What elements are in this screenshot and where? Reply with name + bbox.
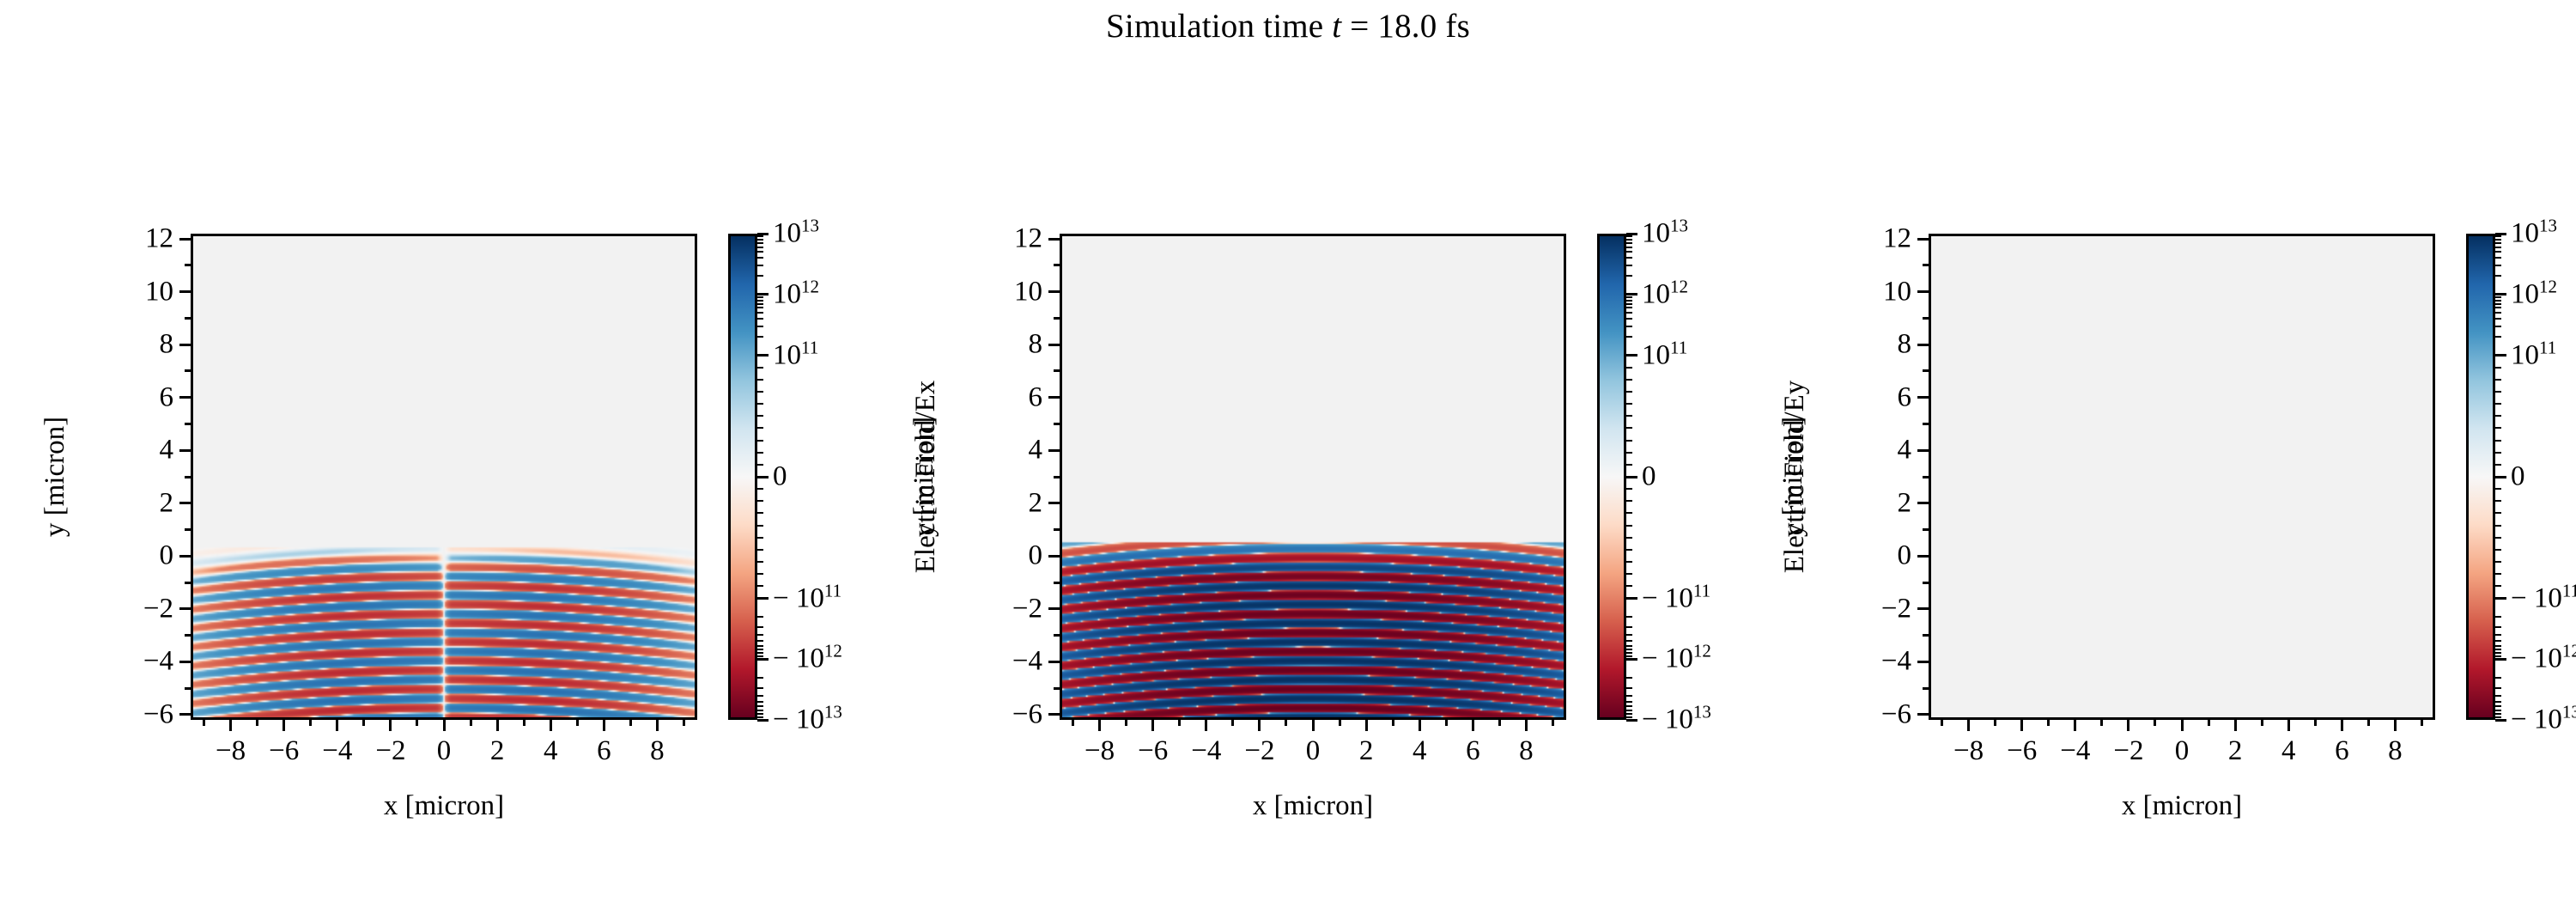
x-tick-major — [656, 720, 659, 731]
colorbar-ey[interactable] — [1597, 234, 1626, 720]
colorbar-tick-minor — [2495, 677, 2501, 679]
y-tick-label: 8 — [62, 329, 173, 361]
colorbar-tick-exponent: 12 — [801, 276, 819, 296]
y-tick-minor — [1923, 634, 1929, 637]
x-tick-minor — [683, 720, 685, 726]
y-tick-label: −4 — [931, 646, 1042, 678]
colorbar-tick-label: − 10 — [2511, 704, 2562, 735]
colorbar-tick-minor — [2495, 257, 2501, 259]
y-tick-minor — [1054, 687, 1060, 690]
colorbar-tick-minor — [757, 677, 763, 679]
plot-area-ex[interactable] — [191, 234, 697, 720]
colorbar-tick-label: 10 — [773, 278, 801, 309]
colorbar-tick-minor — [1626, 239, 1632, 241]
x-tick-label: 4 — [1413, 735, 1427, 767]
colorbar-tick-minor — [757, 713, 763, 715]
y-tick-major — [1917, 607, 1929, 610]
colorbar-tick-minor — [2495, 336, 2501, 338]
colorbar-tick-minor — [2495, 634, 2501, 636]
colorbar-tick-minor — [757, 296, 763, 298]
colorbar-tick-minor — [757, 561, 763, 563]
x-tick-minor — [1392, 720, 1394, 726]
x-tick-label: 0 — [1306, 735, 1321, 767]
colorbar-gradient — [2469, 236, 2493, 717]
colorbar-tick-label: − 10 — [2511, 643, 2562, 674]
colorbar-tick-minor — [2495, 695, 2501, 697]
y-axis-title: y [micron] — [908, 417, 940, 537]
colorbar-tick-minor — [757, 235, 763, 237]
y-tick-major — [1917, 661, 1929, 663]
y-tick-minor — [1923, 317, 1929, 320]
x-tick-major — [2287, 720, 2290, 731]
y-tick-major — [179, 502, 191, 504]
colorbar-tick-label-group: 0 — [2511, 461, 2525, 493]
colorbar-tick-exponent: 12 — [2539, 276, 2557, 296]
y-tick-major — [1048, 661, 1060, 663]
colorbar-tick-minor — [1626, 326, 1632, 327]
colorbar-tick-minor — [1626, 716, 1632, 718]
colorbar-tick-major — [757, 658, 769, 661]
colorbar-tick-exponent: 11 — [2539, 337, 2556, 357]
colorbar-tick-major — [757, 719, 769, 722]
x-tick-minor — [2154, 720, 2156, 726]
colorbar-tick-minor — [2495, 512, 2501, 514]
colorbar-tick-minor — [757, 440, 763, 442]
x-tick-label: −2 — [1244, 735, 1274, 767]
x-tick-major — [1525, 720, 1528, 731]
colorbar-tick-exponent: 11 — [801, 337, 818, 357]
y-tick-label: 10 — [931, 276, 1042, 308]
colorbar-tick-exponent: 11 — [1693, 580, 1710, 600]
colorbar-tick-label-group: − 1013 — [2511, 704, 2576, 736]
y-tick-major — [1917, 502, 1929, 504]
x-tick-major — [2020, 720, 2023, 731]
colorbar-tick-minor — [757, 701, 763, 703]
colorbar-tick-minor — [1626, 488, 1632, 490]
y-tick-major — [1048, 555, 1060, 558]
colorbar-tick-minor — [1626, 687, 1632, 689]
plot-area-ey[interactable] — [1060, 234, 1566, 720]
colorbar-tick-label-group: 1012 — [1642, 278, 1688, 310]
x-tick-major — [1365, 720, 1368, 731]
colorbar-tick-minor — [1626, 242, 1632, 244]
colorbar-tick-minor — [2495, 649, 2501, 650]
colorbar-tick-minor — [2495, 537, 2501, 539]
y-tick-minor — [1054, 264, 1060, 266]
colorbar-tick-label: − 10 — [773, 582, 824, 613]
y-tick-minor — [1054, 423, 1060, 425]
x-tick-minor — [203, 720, 205, 726]
x-tick-minor — [2421, 720, 2423, 726]
x-axis-title: x [micron] — [2122, 790, 2242, 822]
colorbar-tick-minor — [757, 525, 763, 527]
x-tick-minor — [2100, 720, 2103, 726]
colorbar-tick-minor — [757, 537, 763, 539]
colorbar-tick-minor — [1626, 275, 1632, 277]
colorbar-tick-minor — [1626, 713, 1632, 715]
colorbar-tick-minor — [757, 427, 763, 429]
x-tick-minor — [1231, 720, 1234, 726]
y-tick-minor — [185, 423, 191, 425]
colorbar-tick-label-group: 1012 — [2511, 278, 2557, 310]
colorbar-tick-major — [1626, 233, 1637, 235]
y-tick-major — [179, 449, 191, 452]
colorbar-tick-minor — [757, 695, 763, 697]
y-tick-minor — [1923, 264, 1929, 266]
x-tick-minor — [2261, 720, 2263, 726]
y-tick-label: 4 — [1800, 435, 1911, 466]
y-tick-label: −2 — [62, 593, 173, 625]
colorbar-tick-minor — [1626, 573, 1632, 575]
y-tick-major — [1917, 555, 1929, 558]
colorbar-tick-minor — [2495, 488, 2501, 490]
colorbar-tick-label-group: − 1011 — [2511, 582, 2576, 614]
colorbar-tick-minor — [1626, 307, 1632, 308]
y-tick-label: 4 — [62, 435, 173, 466]
colorbar-tick-minor — [1626, 710, 1632, 711]
x-tick-minor — [2367, 720, 2370, 726]
x-tick-major — [603, 720, 605, 731]
colorbar-tick-exponent: 11 — [824, 580, 841, 600]
colorbar-tick-minor — [2495, 296, 2501, 298]
colorbar-tick-minor — [2495, 500, 2501, 502]
colorbar-tick-minor — [757, 616, 763, 618]
y-tick-major — [1917, 344, 1929, 346]
y-tick-label: 2 — [1800, 487, 1911, 519]
y-tick-major — [1917, 290, 1929, 293]
colorbar-tick-minor — [1626, 616, 1632, 618]
colorbar-tick-minor — [2495, 710, 2501, 711]
colorbar-tick-exponent: 11 — [2562, 580, 2576, 600]
colorbar-tick-major — [757, 597, 769, 600]
y-tick-label: 0 — [1800, 540, 1911, 572]
x-tick-minor — [309, 720, 312, 726]
colorbar-tick-minor — [2495, 247, 2501, 248]
colorbar-tick-exponent: 12 — [824, 641, 842, 661]
colorbar-tick-minor — [757, 634, 763, 636]
colorbar-tick-label-group: 1011 — [1642, 339, 1687, 371]
y-tick-label: −6 — [62, 698, 173, 730]
colorbar-tick-minor — [2495, 415, 2501, 417]
colorbar-tick-label-group: − 1011 — [1642, 582, 1710, 614]
x-tick-major — [2074, 720, 2076, 731]
y-tick-minor — [185, 264, 191, 266]
x-tick-label: 0 — [437, 735, 452, 767]
x-tick-label: 2 — [2228, 735, 2243, 767]
colorbar-tick-minor — [1626, 695, 1632, 697]
y-tick-minor — [185, 476, 191, 478]
colorbar-tick-major — [2495, 597, 2506, 600]
colorbar-tick-minor — [2495, 452, 2501, 454]
colorbar-tick-minor — [757, 645, 763, 647]
colorbar-tick-minor — [1626, 265, 1632, 266]
y-tick-label: 6 — [62, 381, 173, 413]
y-tick-major — [1917, 713, 1929, 716]
colorbar-tick-label: − 10 — [773, 704, 824, 735]
colorbar-tick-label: − 10 — [2511, 582, 2562, 613]
y-tick-major — [1917, 396, 1929, 399]
colorbar-tick-label: 0 — [773, 461, 787, 492]
colorbar-tick-minor — [2495, 303, 2501, 305]
colorbar-tick-minor — [2495, 705, 2501, 707]
y-tick-major — [1917, 238, 1929, 241]
colorbar-tick-minor — [757, 585, 763, 587]
colorbar-tick-minor — [757, 336, 763, 338]
colorbar-tick-minor — [2495, 307, 2501, 308]
x-tick-label: −6 — [2007, 735, 2037, 767]
colorbar-tick-exponent: 12 — [2562, 641, 2576, 661]
y-tick-major — [179, 396, 191, 399]
y-tick-major — [1048, 396, 1060, 399]
y-tick-label: 2 — [62, 487, 173, 519]
y-tick-label: −2 — [1800, 593, 1911, 625]
y-tick-label: 0 — [931, 540, 1042, 572]
plot-area-ez[interactable] — [1929, 234, 2435, 720]
y-tick-label: −4 — [62, 646, 173, 678]
colorbar-tick-minor — [1626, 427, 1632, 429]
colorbar-tick-label-group: 1011 — [2511, 339, 2556, 371]
x-tick-label: 8 — [1519, 735, 1534, 767]
x-tick-minor — [256, 720, 258, 726]
colorbar-tick-minor — [2495, 367, 2501, 369]
x-tick-label: 4 — [544, 735, 558, 767]
colorbar-tick-minor — [2495, 403, 2501, 405]
colorbar-tick-label: 10 — [1642, 218, 1670, 249]
colorbar-tick-major — [1626, 597, 1637, 600]
colorbar-tick-minor — [757, 326, 763, 327]
figure-title-prefix: Simulation time — [1106, 8, 1332, 45]
colorbar-tick-exponent: 13 — [2562, 702, 2576, 722]
colorbar-tick-minor — [1626, 645, 1632, 647]
colorbar-tick-major — [1626, 658, 1637, 661]
colorbar-ez[interactable] — [2466, 234, 2495, 720]
x-tick-label: 4 — [2281, 735, 2296, 767]
colorbar-tick-minor — [757, 452, 763, 454]
colorbar-tick-minor — [2495, 312, 2501, 314]
colorbar-tick-minor — [757, 303, 763, 305]
colorbar-tick-minor — [1626, 235, 1632, 237]
colorbar-tick-minor — [2495, 464, 2501, 466]
colorbar-tick-major — [2495, 233, 2506, 235]
y-tick-major — [1048, 502, 1060, 504]
colorbar-tick-minor — [757, 379, 763, 381]
colorbar-tick-minor — [757, 464, 763, 466]
y-tick-major — [1048, 290, 1060, 293]
colorbar-tick-minor — [1626, 379, 1632, 381]
colorbar-tick-label: 10 — [773, 218, 801, 249]
colorbar-tick-minor — [2495, 251, 2501, 253]
x-axis-title: x [micron] — [384, 790, 504, 822]
x-tick-minor — [1445, 720, 1448, 726]
colorbar-tick-exponent: 13 — [1670, 216, 1688, 236]
x-tick-label: −6 — [1138, 735, 1168, 767]
colorbar-tick-minor — [2495, 655, 2501, 657]
colorbar-tick-minor — [2495, 275, 2501, 277]
colorbar-tick-major — [2495, 719, 2506, 722]
colorbar-tick-label-group: − 1013 — [773, 704, 842, 736]
colorbar-ex[interactable] — [728, 234, 757, 720]
x-tick-minor — [1994, 720, 1996, 726]
colorbar-tick-minor — [2495, 585, 2501, 587]
x-tick-minor — [362, 720, 365, 726]
colorbar-tick-minor — [1626, 649, 1632, 650]
x-tick-major — [1151, 720, 1154, 731]
x-tick-major — [550, 720, 552, 731]
x-tick-label: −2 — [375, 735, 405, 767]
x-tick-major — [2234, 720, 2237, 731]
colorbar-tick-minor — [1626, 300, 1632, 302]
y-tick-label: −6 — [1800, 698, 1911, 730]
colorbar-tick-minor — [2495, 652, 2501, 654]
colorbar-tick-minor — [757, 500, 763, 502]
colorbar-tick-minor — [757, 710, 763, 711]
y-tick-major — [1048, 449, 1060, 452]
colorbar-tick-minor — [757, 626, 763, 628]
colorbar-tick-minor — [2495, 561, 2501, 563]
y-tick-major — [1048, 344, 1060, 346]
colorbar-tick-minor — [757, 242, 763, 244]
colorbar-tick-minor — [1626, 640, 1632, 642]
y-tick-minor — [1054, 634, 1060, 637]
colorbar-tick-minor — [1626, 626, 1632, 628]
colorbar-tick-major — [1626, 293, 1637, 296]
y-tick-minor — [185, 317, 191, 320]
colorbar-tick-label-group: − 1011 — [773, 582, 841, 614]
colorbar-tick-label: − 10 — [773, 643, 824, 674]
colorbar-tick-minor — [2495, 716, 2501, 718]
x-tick-minor — [1178, 720, 1181, 726]
colorbar-tick-minor — [1626, 312, 1632, 314]
y-tick-label: 10 — [62, 276, 173, 308]
x-tick-label: 8 — [650, 735, 665, 767]
y-tick-label: 8 — [1800, 329, 1911, 361]
colorbar-tick-label: − 10 — [1642, 582, 1693, 613]
x-tick-label: −8 — [216, 735, 246, 767]
x-tick-major — [1967, 720, 1970, 731]
colorbar-tick-exponent: 12 — [1670, 276, 1688, 296]
colorbar-tick-minor — [2495, 626, 2501, 628]
x-tick-major — [2181, 720, 2184, 731]
y-tick-minor — [1923, 423, 1929, 425]
x-tick-minor — [1072, 720, 1074, 726]
colorbar-tick-major — [2495, 476, 2506, 478]
colorbar-tick-minor — [2495, 427, 2501, 429]
colorbar-tick-minor — [1626, 500, 1632, 502]
colorbar-tick-minor — [757, 705, 763, 707]
colorbar-tick-minor — [2495, 242, 2501, 244]
colorbar-tick-minor — [1626, 585, 1632, 587]
colorbar-tick-major — [2495, 658, 2506, 661]
colorbar-tick-minor — [757, 367, 763, 369]
colorbar-tick-minor — [1626, 549, 1632, 551]
colorbar-tick-major — [1626, 719, 1637, 722]
x-tick-label: −6 — [269, 735, 299, 767]
x-tick-minor — [1941, 720, 1943, 726]
figure-title-value: = 18.0 fs — [1341, 8, 1470, 45]
y-tick-label: −2 — [931, 593, 1042, 625]
colorbar-tick-minor — [2495, 713, 2501, 715]
x-tick-major — [389, 720, 392, 731]
colorbar-tick-label: 10 — [2511, 278, 2539, 309]
colorbar-tick-label: 10 — [1642, 278, 1670, 309]
y-tick-label: 4 — [931, 435, 1042, 466]
x-tick-minor — [2208, 720, 2210, 726]
colorbar-tick-minor — [2495, 525, 2501, 527]
colorbar-tick-minor — [2495, 326, 2501, 327]
y-tick-minor — [1923, 528, 1929, 531]
colorbar-tick-label: − 10 — [1642, 643, 1693, 674]
colorbar-tick-minor — [2495, 239, 2501, 241]
colorbar-tick-minor — [757, 247, 763, 248]
colorbar-tick-minor — [757, 275, 763, 277]
colorbar-tick-minor — [1626, 318, 1632, 320]
colorbar-tick-minor — [2495, 440, 2501, 442]
colorbar-tick-minor — [1626, 677, 1632, 679]
y-tick-major — [1917, 449, 1929, 452]
colorbar-tick-minor — [2495, 265, 2501, 266]
colorbar-tick-minor — [2495, 687, 2501, 689]
colorbar-tick-minor — [1626, 257, 1632, 259]
x-tick-major — [1258, 720, 1261, 731]
figure-title-variable: t — [1332, 8, 1341, 45]
colorbar-tick-minor — [1626, 525, 1632, 527]
x-tick-label: −8 — [1084, 735, 1115, 767]
colorbar-tick-exponent: 13 — [824, 702, 842, 722]
x-tick-label: 0 — [2175, 735, 2190, 767]
y-tick-minor — [1054, 369, 1060, 372]
y-tick-label: 6 — [1800, 381, 1911, 413]
y-tick-label: 6 — [931, 381, 1042, 413]
colorbar-tick-exponent: 13 — [801, 216, 819, 236]
colorbar-tick-minor — [757, 391, 763, 393]
colorbar-tick-minor — [1626, 440, 1632, 442]
x-tick-major — [2127, 720, 2129, 731]
colorbar-tick-minor — [757, 512, 763, 514]
x-tick-major — [443, 720, 446, 731]
y-tick-minor — [185, 634, 191, 637]
x-tick-major — [1205, 720, 1207, 731]
y-tick-label: 12 — [1800, 223, 1911, 255]
colorbar-tick-minor — [757, 716, 763, 718]
colorbar-tick-minor — [757, 652, 763, 654]
colorbar-tick-minor — [757, 403, 763, 405]
colorbar-tick-minor — [2495, 640, 2501, 642]
y-tick-label: 12 — [931, 223, 1042, 255]
colorbar-tick-label-group: − 1012 — [2511, 643, 2576, 675]
x-tick-major — [283, 720, 285, 731]
colorbar-tick-minor — [757, 573, 763, 575]
y-tick-minor — [1054, 528, 1060, 531]
y-tick-major — [1048, 607, 1060, 610]
colorbar-tick-label: 10 — [2511, 218, 2539, 249]
colorbar-tick-label-group: − 1012 — [773, 643, 842, 675]
y-tick-label: −4 — [1800, 646, 1911, 678]
x-tick-label: 6 — [597, 735, 611, 767]
colorbar-tick-minor — [1626, 705, 1632, 707]
x-tick-minor — [1498, 720, 1501, 726]
colorbar-tick-label-group: 1013 — [1642, 218, 1688, 250]
colorbar-tick-minor — [2495, 616, 2501, 618]
colorbar-tick-label-group: 1013 — [2511, 218, 2557, 250]
colorbar-tick-label: 10 — [773, 339, 801, 370]
colorbar-tick-label: 10 — [2511, 339, 2539, 370]
x-tick-label: −4 — [2060, 735, 2090, 767]
colorbar-tick-minor — [1626, 655, 1632, 657]
x-tick-minor — [2047, 720, 2050, 726]
colorbar-tick-minor — [1626, 701, 1632, 703]
x-tick-major — [1312, 720, 1315, 731]
y-tick-minor — [1054, 582, 1060, 584]
